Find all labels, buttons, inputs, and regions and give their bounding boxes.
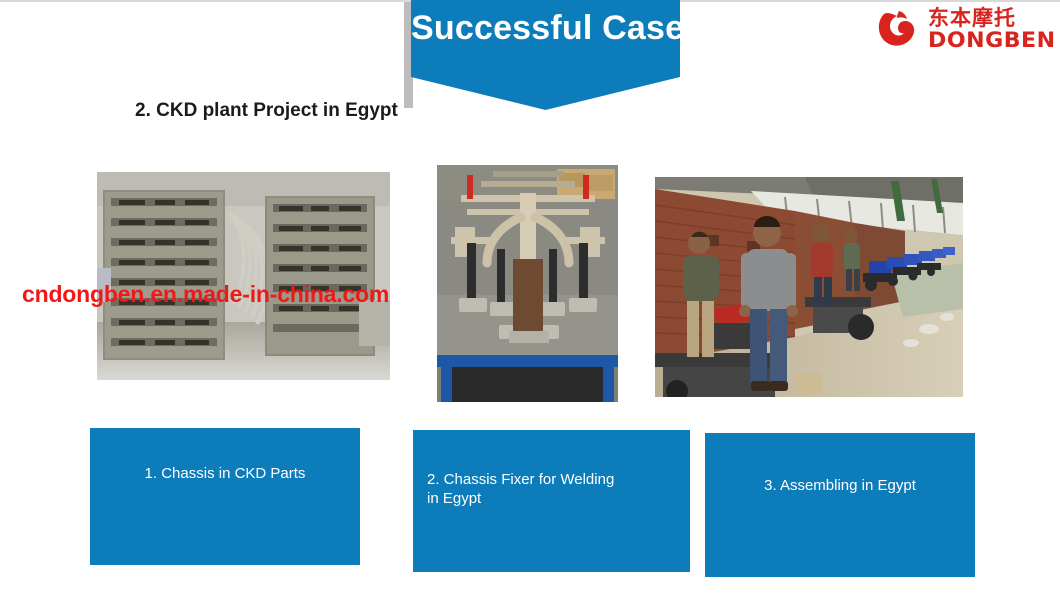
caption-label-2: 2. Chassis Fixer for Welding in Egypt <box>413 471 690 509</box>
photo-chassis-welding-fixer <box>437 165 618 402</box>
title-banner: Successful Cases <box>404 0 680 110</box>
page-title: Successful Cases <box>411 4 680 52</box>
caption-box-chassis-fixer-welding[interactable]: 2. Chassis Fixer for Welding in Egypt <box>413 430 690 572</box>
brand-logo: 东本摩托 DONGBEN <box>876 6 1054 52</box>
photo-assembling-line-egypt <box>655 177 963 397</box>
presentation-slide: Successful Cases 东本摩托 DONGBEN 2. CKD pla… <box>0 0 1060 593</box>
caption-box-assembling-egypt[interactable]: 3. Assembling in Egypt <box>705 433 975 577</box>
dongben-swoosh-icon <box>876 8 926 50</box>
brand-name-english: DONGBEN <box>928 30 1056 51</box>
brand-name-chinese: 东本摩托 <box>928 8 1050 29</box>
brand-logo-text: 东本摩托 DONGBEN <box>928 8 1050 51</box>
photo-chassis-ckd-parts-graphic <box>97 172 390 380</box>
caption-label-3: 3. Assembling in Egypt <box>705 477 975 496</box>
photo-chassis-welding-fixer-graphic <box>437 165 618 402</box>
photo-assembling-line-egypt-graphic <box>655 177 963 397</box>
caption-box-chassis-ckd-parts[interactable]: 1. Chassis in CKD Parts <box>90 428 360 565</box>
photo-chassis-ckd-parts <box>97 172 390 380</box>
section-subtitle: 2. CKD plant Project in Egypt <box>135 100 398 122</box>
caption-label-1: 1. Chassis in CKD Parts <box>90 465 360 484</box>
